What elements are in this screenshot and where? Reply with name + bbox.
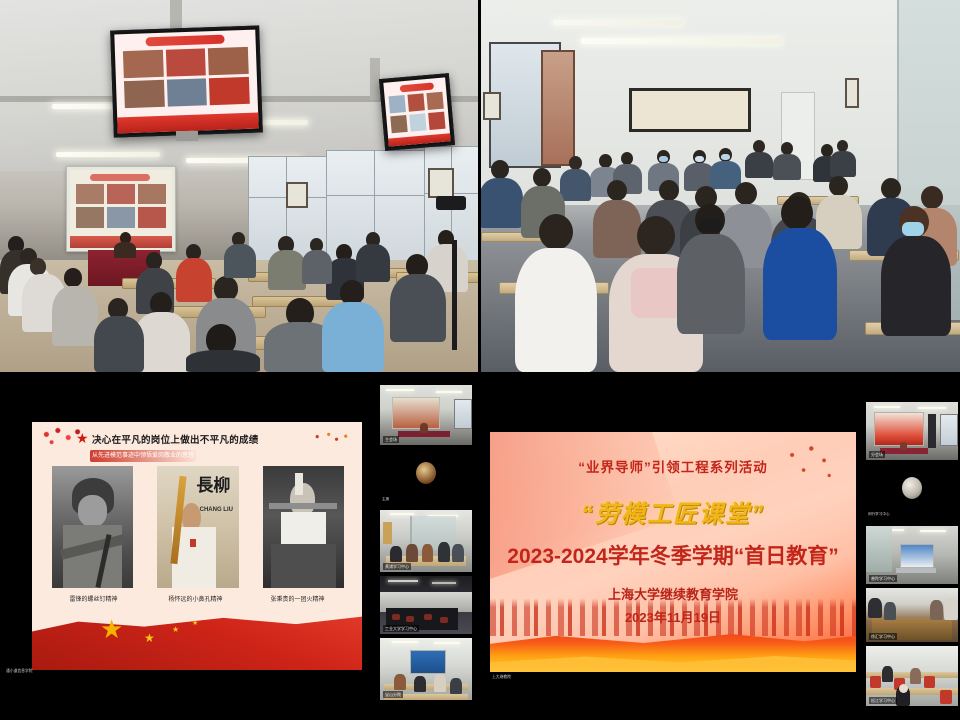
participant-column-left: 主会场 主席 黄浦学习中心 (376, 372, 488, 720)
gold-star-small-1-icon: ★ (144, 632, 155, 644)
participant-tile-5[interactable]: 宝山分院 (380, 638, 472, 700)
portrait-lei-feng (52, 466, 133, 588)
shared-screen-left-label: 通小道信息学院 (6, 668, 33, 675)
photo-row (0, 0, 960, 372)
slide-model-workers: ★ 决心在平凡的岗位上做出不平凡的成绩 从先进模范事迹中领悟爱岗敬业的思想 長柳… (32, 422, 362, 670)
hanging-tv-secondary (379, 73, 455, 151)
meeting-grid: ★ 决心在平凡的岗位上做出不平凡的成绩 从先进模范事迹中领悟爱岗敬业的思想 長柳… (0, 372, 960, 720)
participant-label: 工业大学学习中心 (383, 625, 419, 632)
participant-tile-6[interactable]: 分会场 (866, 402, 958, 460)
slide-subtitle: 从先进模范事迹中领悟爱岗敬业的思想 (90, 450, 196, 462)
participant-label: 松江学习中心 (869, 697, 897, 704)
participant-tile-2[interactable]: 主席 (380, 450, 472, 505)
participant-tile-7[interactable]: 闵行学习中心 (866, 465, 958, 521)
portrait-yang-huaiyuan: 長柳 CHANG LIU (157, 466, 238, 588)
slide-caption-3: 张秉贵的一团火精神 (260, 594, 335, 603)
room-projection-screen (874, 412, 924, 446)
red-star-icon: ★ (76, 431, 89, 445)
participant-column-right: 分会场 闵行学习中心 普陀学习中心 (864, 372, 960, 720)
participant-label: 分会场 (869, 451, 885, 458)
participant-label: 闵行学习中心 (868, 511, 890, 517)
shared-screen-left[interactable]: ★ 决心在平凡的岗位上做出不平凡的成绩 从先进模范事迹中领悟爱岗敬业的思想 長柳… (0, 372, 372, 720)
room-projection-screen (392, 397, 440, 429)
slide-main-title: “业界导师”引领工程系列活动 “劳模工匠课堂” 2023-2024学年冬季学期“… (490, 432, 856, 672)
skyline-decoration (490, 590, 856, 636)
portrait-zhang-binggui (263, 466, 344, 588)
participant-tile-3[interactable]: 黄浦学习中心 (380, 510, 472, 572)
participant-label: 普陀学习中心 (869, 575, 897, 582)
participant-tile-10[interactable]: 松江学习中心 (866, 646, 958, 706)
participant-tile-8[interactable]: 普陀学习中心 (866, 526, 958, 584)
participant-label: 主席 (382, 496, 389, 502)
screenshot-root: ★ 决心在平凡的岗位上做出不平凡的成绩 从先进模范事迹中领悟爱岗敬业的思想 長柳… (0, 0, 960, 720)
participant-label: 徐汇学习中心 (869, 633, 897, 640)
slide-line-1: “业界导师”引领工程系列活动 (490, 456, 856, 476)
calligraphy-artwork (629, 88, 751, 132)
participant-label: 黄浦学习中心 (383, 563, 411, 570)
slide-title: 决心在平凡的岗位上做出不平凡的成绩 (92, 432, 259, 446)
shared-screen-center-label: 上大继教院 (492, 674, 511, 681)
gold-star-small-2-icon: ★ (172, 624, 179, 636)
bird-decoration (308, 430, 354, 452)
shared-screen-center[interactable]: “业界导师”引领工程系列活动 “劳模工匠课堂” 2023-2024学年冬季学期“… (488, 372, 864, 720)
participant-tile-9[interactable]: 徐汇学习中心 (866, 588, 958, 642)
slide-photo-group: 長柳 CHANG LIU (52, 466, 344, 588)
classroom-lecture-photo (0, 0, 478, 372)
slide-caption-2: 杨怀远的小鼻孔精神 (158, 594, 233, 603)
gold-star-large-icon: ★ (100, 616, 123, 642)
audience-photo (481, 0, 960, 372)
participant-tile-4[interactable]: 工业大学学习中心 (380, 576, 472, 634)
slide-caption-1: 雷锋的螺丝钉精神 (56, 594, 131, 603)
room-tv-screen (900, 544, 934, 568)
participant-tile-1[interactable]: 主会场 (380, 385, 472, 445)
hanging-tv-main (110, 25, 263, 137)
participant-label: 宝山分院 (383, 691, 403, 698)
avatar (416, 462, 436, 484)
room-tv-screen (410, 650, 446, 674)
slide-line-3: 2023-2024学年冬季学期“首日教育” (490, 540, 856, 570)
avatar (902, 477, 922, 499)
participant-label: 主会场 (383, 436, 399, 443)
slide-line-2: “劳模工匠课堂” (490, 494, 856, 529)
gold-star-small-3-icon: ★ (192, 618, 198, 630)
